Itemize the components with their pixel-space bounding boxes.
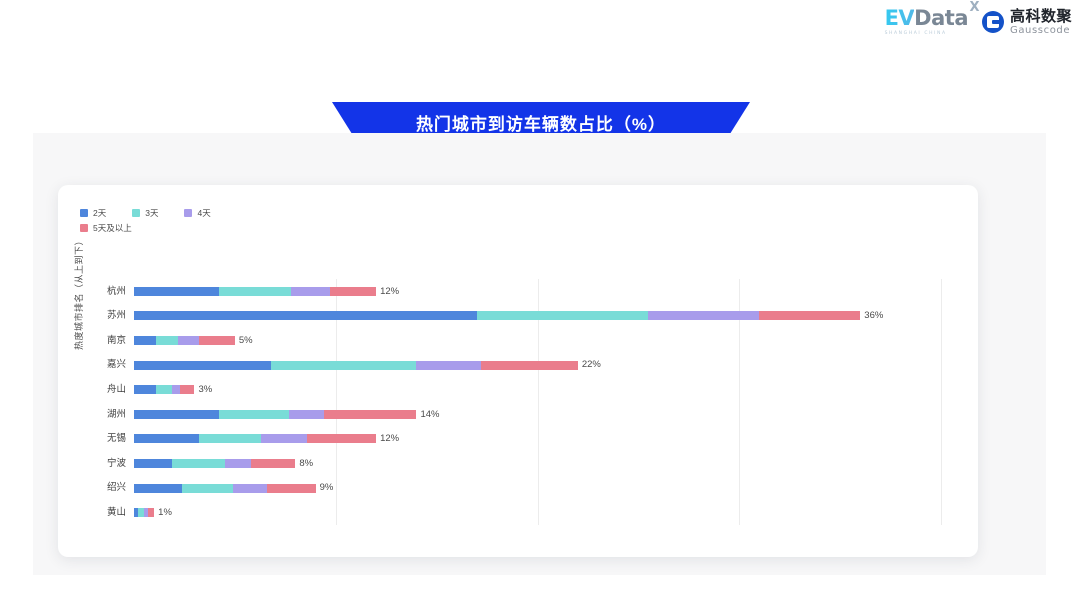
bar-value-label: 8% (299, 459, 313, 469)
stacked-bar-无锡[interactable] (134, 434, 376, 443)
y-axis-label-舟山: 舟山 (58, 385, 126, 395)
gausscode-logo: 高科数聚 Gausscode (982, 9, 1072, 36)
evdata-data-text: Data (914, 6, 968, 30)
chart-row[interactable]: 黄山1% (58, 500, 978, 525)
bar-segment-3天 (477, 311, 648, 320)
bar-value-label: 36% (864, 311, 883, 321)
chart-row[interactable]: 宁波8% (58, 451, 978, 476)
chart-row[interactable]: 湖州14% (58, 402, 978, 427)
bar-segment-4天 (172, 385, 180, 394)
bar-segment-5天及以上 (251, 459, 295, 468)
bar-segment-4天 (416, 361, 481, 370)
y-axis-label-南京: 南京 (58, 336, 126, 346)
stacked-bar-杭州[interactable] (134, 287, 376, 296)
chart-row[interactable]: 绍兴9% (58, 476, 978, 501)
bar-segment-4天 (289, 410, 323, 419)
bar-segment-3天 (219, 410, 290, 419)
page-title: 热门城市到访车辆数占比（%） (416, 110, 666, 135)
bar-segment-2天 (134, 410, 219, 419)
bar-value-label: 14% (420, 410, 439, 420)
bar-value-label: 9% (320, 483, 334, 493)
chart-plot-area: 热度城市排名（从上到下） 杭州12%苏州36%南京5%嘉兴22%舟山3%湖州14… (58, 185, 978, 557)
bar-segment-5天及以上 (267, 484, 315, 493)
bar-segment-4天 (291, 287, 329, 296)
bar-segment-2天 (134, 336, 156, 345)
bar-segment-3天 (156, 336, 178, 345)
gausscode-mark-icon (982, 11, 1004, 33)
stacked-bar-黄山[interactable] (134, 508, 154, 517)
bar-segment-3天 (271, 361, 416, 370)
y-axis-label-苏州: 苏州 (58, 311, 126, 321)
evdata-tagline: SHANGHAI CHINA (885, 31, 947, 36)
bar-segment-3天 (199, 434, 262, 443)
y-axis-label-杭州: 杭州 (58, 287, 126, 297)
chart-row[interactable]: 苏州36% (58, 304, 978, 329)
stacked-bar-苏州[interactable] (134, 311, 860, 320)
bar-segment-5天及以上 (324, 410, 417, 419)
bar-segment-4天 (225, 459, 251, 468)
chart-row[interactable]: 舟山3% (58, 377, 978, 402)
bar-segment-5天及以上 (307, 434, 376, 443)
chart-card: 2天3天4天5天及以上 热度城市排名（从上到下） 杭州12%苏州36%南京5%嘉… (58, 185, 978, 557)
y-axis-label-宁波: 宁波 (58, 459, 126, 469)
stacked-bar-湖州[interactable] (134, 410, 416, 419)
evdata-ev-text: EV (885, 6, 915, 30)
header-logos: EVDataX SHANGHAI CHINA 高科数聚 Gausscode (885, 8, 1072, 36)
chart-bars: 杭州12%苏州36%南京5%嘉兴22%舟山3%湖州14%无锡12%宁波8%绍兴9… (58, 279, 978, 525)
y-axis-label-嘉兴: 嘉兴 (58, 360, 126, 370)
bar-segment-5天及以上 (759, 311, 860, 320)
bar-segment-4天 (261, 434, 307, 443)
stacked-bar-宁波[interactable] (134, 459, 295, 468)
bar-value-label: 12% (380, 434, 399, 444)
bar-segment-5天及以上 (148, 508, 154, 517)
bar-value-label: 22% (582, 360, 601, 370)
bar-segment-2天 (134, 484, 182, 493)
bar-segment-5天及以上 (199, 336, 235, 345)
bar-segment-3天 (156, 385, 172, 394)
chart-row[interactable]: 南京5% (58, 328, 978, 353)
evdata-superscript-x: X (969, 1, 979, 14)
bar-segment-5天及以上 (330, 287, 376, 296)
bar-segment-4天 (648, 311, 759, 320)
bar-value-label: 5% (239, 336, 253, 346)
y-axis-label-黄山: 黄山 (58, 508, 126, 518)
stacked-bar-绍兴[interactable] (134, 484, 316, 493)
y-axis-label-绍兴: 绍兴 (58, 483, 126, 493)
bar-segment-3天 (182, 484, 232, 493)
bar-segment-5天及以上 (481, 361, 578, 370)
bar-segment-3天 (172, 459, 224, 468)
bar-segment-4天 (178, 336, 198, 345)
gausscode-name-en: Gausscode (1010, 26, 1072, 36)
gausscode-name-cn: 高科数聚 (1010, 9, 1072, 24)
evdata-wordmark: EVDataX (885, 8, 968, 29)
stacked-bar-南京[interactable] (134, 336, 235, 345)
y-axis-label-湖州: 湖州 (58, 410, 126, 420)
chart-row[interactable]: 杭州12% (58, 279, 978, 304)
bar-segment-2天 (134, 459, 172, 468)
chart-row[interactable]: 无锡12% (58, 427, 978, 452)
bar-segment-4天 (233, 484, 267, 493)
gausscode-text: 高科数聚 Gausscode (1010, 9, 1072, 36)
bar-segment-2天 (134, 287, 219, 296)
chart-row[interactable]: 嘉兴22% (58, 353, 978, 378)
bar-value-label: 3% (199, 385, 213, 395)
bar-segment-2天 (134, 311, 477, 320)
y-axis-label-无锡: 无锡 (58, 434, 126, 444)
bar-segment-3天 (219, 287, 292, 296)
bar-segment-2天 (134, 385, 156, 394)
stacked-bar-舟山[interactable] (134, 385, 194, 394)
bar-segment-5天及以上 (180, 385, 194, 394)
bar-segment-2天 (134, 361, 271, 370)
evdata-logo: EVDataX SHANGHAI CHINA (885, 8, 968, 36)
bar-segment-2天 (134, 434, 199, 443)
stacked-bar-嘉兴[interactable] (134, 361, 578, 370)
bar-value-label: 12% (380, 287, 399, 297)
bar-value-label: 1% (158, 508, 172, 518)
